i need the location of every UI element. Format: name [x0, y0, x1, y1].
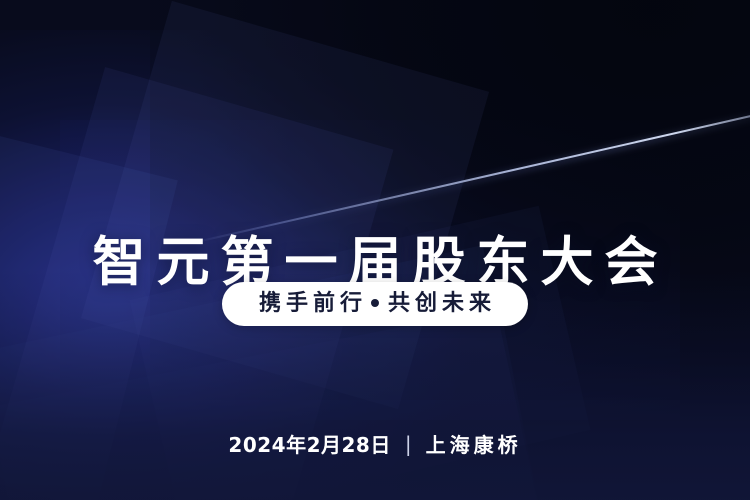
slogan-badge: 携手前行共创未来 — [222, 282, 528, 326]
bullet-dot-icon — [371, 299, 379, 307]
slogan-left: 携手前行 — [259, 291, 367, 316]
event-poster: 智元第一届股东大会 携手前行共创未来 2024年2月28日|上海康桥 — [0, 0, 750, 500]
slogan-text: 携手前行共创未来 — [254, 293, 496, 315]
event-details: 2024年2月28日|上海康桥 — [0, 432, 750, 458]
event-location: 上海康桥 — [426, 433, 522, 457]
footer-separator: | — [405, 431, 412, 457]
event-date: 2024年2月28日 — [228, 433, 390, 457]
poster-content: 智元第一届股东大会 携手前行共创未来 2024年2月28日|上海康桥 — [0, 0, 750, 500]
slogan-right: 共创未来 — [388, 291, 496, 316]
